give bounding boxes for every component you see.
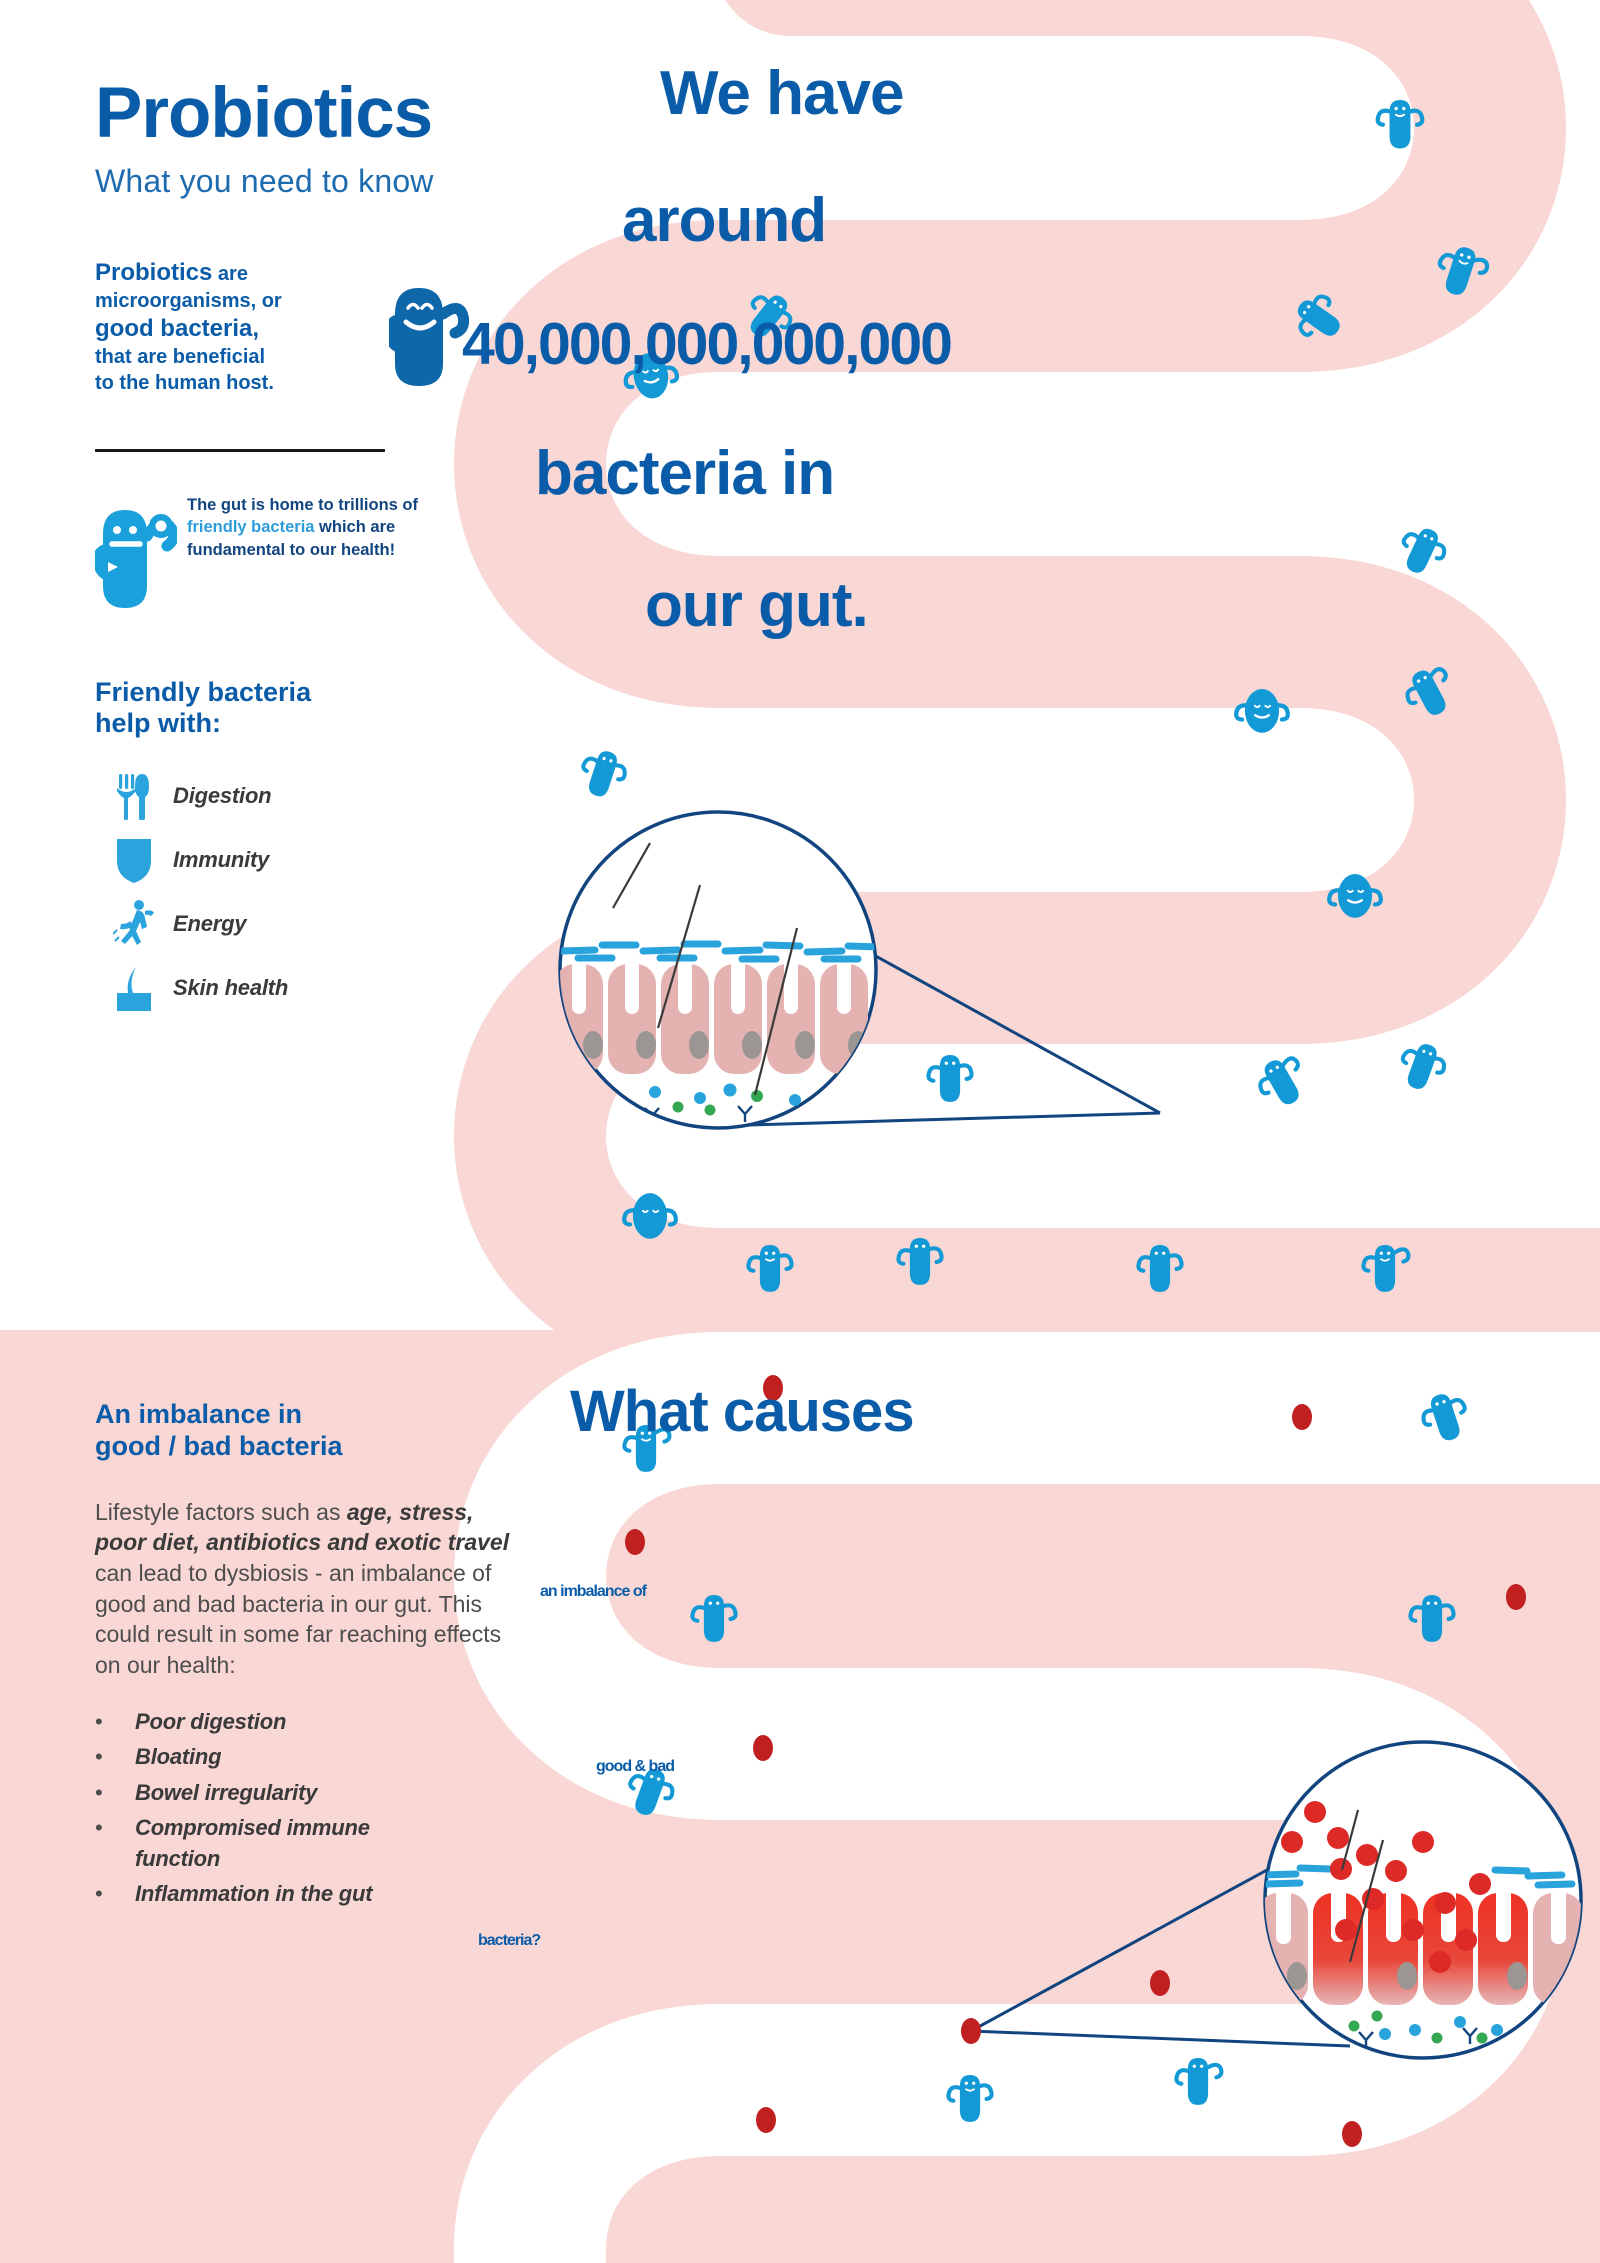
bullet-marker: • — [95, 1741, 135, 1772]
left-sidebar: Probiotics What you need to know Probiot… — [95, 0, 535, 1020]
gut-headline-good-and-bad: good & bad — [596, 1758, 674, 1776]
imbalance-body-post: can lead to dysbiosis - an imbalance of … — [95, 1560, 501, 1678]
imbalance-title-line2: good / bad bacteria — [95, 1431, 343, 1461]
section-divider — [95, 449, 385, 452]
intro-line2: microorganisms, or — [95, 289, 385, 315]
help-item-immunity: Immunity — [95, 828, 535, 892]
effect-label: Poor digestion — [135, 1706, 286, 1737]
gut-home-line1: The gut is home to trillions of — [187, 496, 418, 514]
intro-line3: good bacteria, — [95, 314, 385, 345]
intro-lead: Probiotics — [95, 259, 212, 286]
gut-headline-bacteria-in: bacteria in — [535, 438, 834, 509]
gut-home-highlight: friendly bacteria — [187, 518, 314, 536]
page-subtitle: What you need to know — [95, 163, 535, 200]
gut-headline-what-causes: What causes — [570, 1378, 914, 1445]
gut-home-line3: fundamental to our health! — [187, 541, 395, 559]
help-item-skin-health: Skin health — [95, 956, 535, 1020]
gut-headline-our-gut: our gut. — [645, 570, 868, 641]
runner-icon — [95, 899, 173, 949]
gut-headline-we-have: We have — [660, 58, 903, 129]
effect-list: • Poor digestion • Bloating • Bowel irre… — [95, 1706, 525, 1909]
imbalance-body-pre: Lifestyle factors such as — [95, 1499, 347, 1525]
page-title: Probiotics — [95, 78, 535, 149]
help-title-line1: Friendly bacteria — [95, 677, 311, 707]
effect-label: Inflammation in the gut — [135, 1878, 372, 1909]
list-item: • Compromised immune function — [95, 1812, 525, 1874]
list-item: • Inflammation in the gut — [95, 1878, 525, 1909]
imbalance-title-line1: An imbalance in — [95, 1399, 302, 1429]
bullet-marker: • — [95, 1812, 135, 1874]
help-list: Digestion Immunity — [95, 764, 535, 1020]
help-item-energy: Energy — [95, 892, 535, 956]
effect-label: Bowel irregularity — [135, 1777, 317, 1808]
waving-bacteria-mascot-icon — [95, 498, 177, 615]
imbalance-body: Lifestyle factors such as age, stress, p… — [95, 1497, 513, 1680]
shield-icon — [95, 835, 173, 885]
help-item-label: Digestion — [173, 783, 271, 809]
imbalance-title: An imbalance in good / bad bacteria — [95, 1398, 525, 1463]
effect-label: Compromised immune function — [135, 1812, 445, 1874]
intro-line4: that are beneficial — [95, 345, 385, 371]
bottom-left-column: An imbalance in good / bad bacteria Life… — [95, 1398, 525, 1914]
gut-home-block: The gut is home to trillions of friendly… — [95, 494, 535, 615]
gut-home-line2-rest: which are — [314, 518, 395, 536]
help-item-label: Energy — [173, 911, 246, 937]
bullet-marker: • — [95, 1777, 135, 1808]
list-item: • Bloating — [95, 1741, 525, 1772]
intro-text: Probiotics are microorganisms, or good b… — [95, 258, 385, 396]
intro-line5: to the human host. — [95, 371, 385, 397]
help-section-title: Friendly bacteria help with: — [95, 677, 535, 738]
gut-home-text: The gut is home to trillions of friendly… — [187, 494, 437, 561]
help-title-line2: help with: — [95, 708, 221, 738]
list-item: • Poor digestion — [95, 1706, 525, 1737]
gut-headline-number: 40,000,000,000,000 — [462, 310, 951, 378]
help-item-label: Skin health — [173, 975, 288, 1001]
help-item-digestion: Digestion — [95, 764, 535, 828]
gut-headline-bacteria-q: bacteria? — [478, 1932, 540, 1950]
bullet-marker: • — [95, 1706, 135, 1737]
gut-headline-an-imbalance-of: an imbalance of — [540, 1583, 646, 1601]
list-item: • Bowel irregularity — [95, 1777, 525, 1808]
bullet-marker: • — [95, 1878, 135, 1909]
fork-knife-icon — [95, 772, 173, 820]
good-bacteria-mascot-icon — [389, 280, 469, 397]
intro-line1-rest: are — [212, 263, 248, 285]
effect-label: Bloating — [135, 1741, 221, 1772]
gut-headline-around: around — [622, 185, 826, 256]
help-item-label: Immunity — [173, 847, 269, 873]
skin-hair-follicle-icon — [95, 963, 173, 1013]
